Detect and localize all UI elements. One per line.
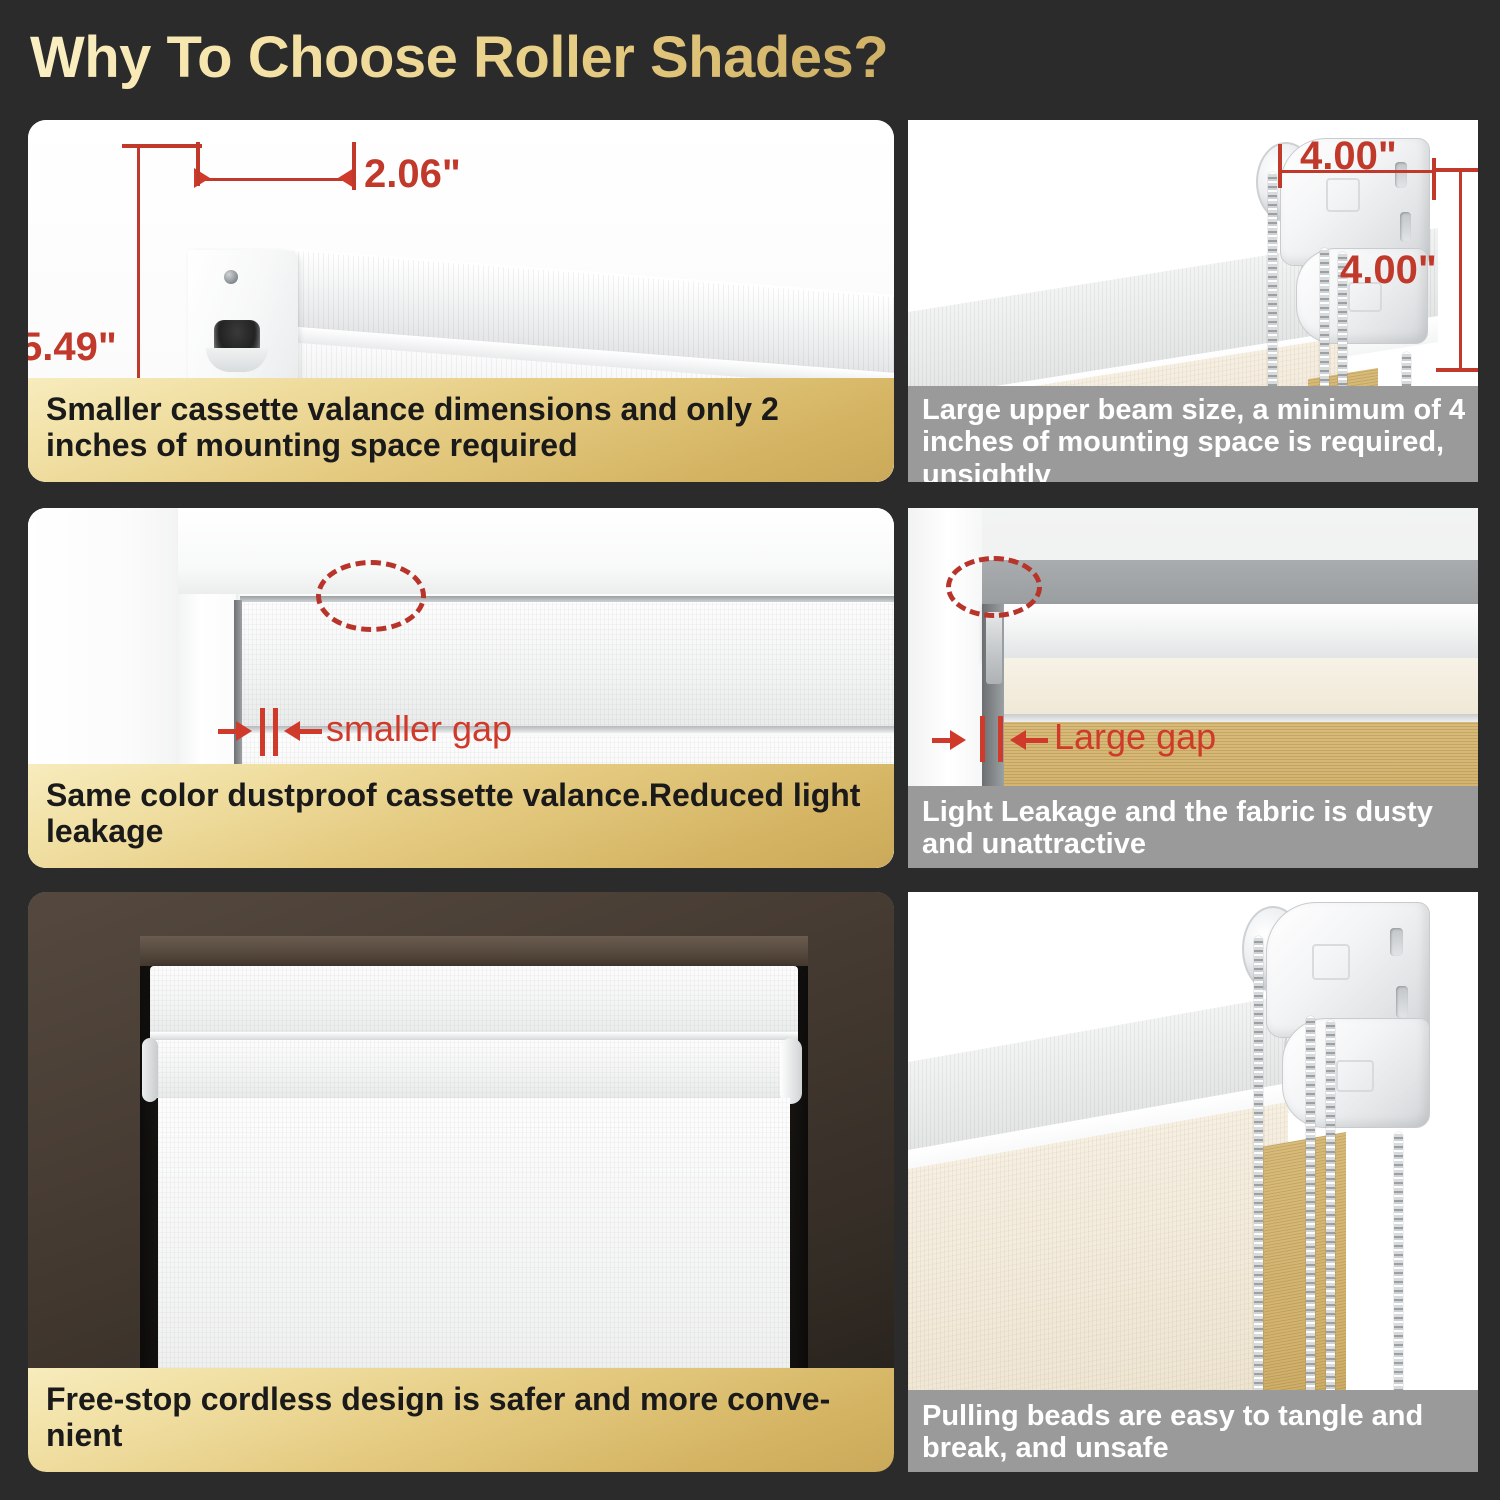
dimension-label-height: 5.49" xyxy=(28,325,117,370)
infographic-root: Why To Choose Roller Shades? xyxy=(0,0,1500,1500)
caption-top-right: Large upper beam size, a minimum of 4 in… xyxy=(908,386,1478,482)
caption-middle-right: Light Leakage and the fabric is dusty an… xyxy=(908,786,1478,868)
gap-callout-label: Large gap xyxy=(1054,716,1216,758)
dim-tick-right-top xyxy=(352,142,356,190)
gap-arrow-right-tail xyxy=(300,729,322,734)
detail-highlight-ellipse xyxy=(946,556,1042,618)
bracket-notch-icon xyxy=(1326,178,1360,212)
caption-text: Pulling beads are easy to tangle and bre… xyxy=(922,1400,1423,1464)
caption-bottom-left: Free-stop cordless design is safer and m… xyxy=(28,1368,894,1472)
detail-highlight-ellipse xyxy=(316,560,426,632)
dim-tick-top xyxy=(1436,168,1478,172)
roller-end-left xyxy=(142,1038,158,1102)
window-soffit xyxy=(140,936,808,966)
headrail-valance xyxy=(150,966,798,1036)
caption-middle-left: Same color dustproof cassette valance.Re… xyxy=(28,764,894,868)
gap-callout-label: smaller gap xyxy=(326,708,512,750)
caption-top-left: Smaller cassette valance dimensions and … xyxy=(28,378,894,482)
dim-tick-left-top xyxy=(196,142,200,186)
screw-icon-top xyxy=(224,270,238,284)
panel-bottom-right: Pulling beads are easy to tangle and bre… xyxy=(908,892,1478,1472)
caption-text-line1: Free-stop cordless design is safer and m… xyxy=(46,1381,830,1417)
dim-line-width xyxy=(198,178,353,181)
caption-text-line2: nient xyxy=(46,1417,122,1453)
panel-middle-right: Large gap Light Leakage and the fabric i… xyxy=(908,508,1478,868)
gap-arrow-left-head xyxy=(236,721,252,741)
caption-text: Large upper beam size, a minimum of 4 in… xyxy=(922,394,1465,482)
bracket-notch-icon-lower xyxy=(1336,1060,1374,1092)
dimension-label-width: 2.06" xyxy=(364,152,461,197)
caption-bottom-right: Pulling beads are easy to tangle and bre… xyxy=(908,1390,1478,1472)
roller-end-right xyxy=(780,1038,802,1104)
headrail-tube xyxy=(982,604,1478,662)
bracket-slot-mid xyxy=(1396,986,1408,1018)
dim-tick-bottom xyxy=(1436,368,1478,372)
gap-arrow-right-head xyxy=(1010,730,1026,750)
headrail-seam xyxy=(150,1032,798,1040)
valance-face xyxy=(982,658,1478,718)
panel-top-right: 4.00" 4.00" Large upper beam size, a min… xyxy=(908,120,1478,482)
dim-tick-left xyxy=(1278,144,1282,188)
window-frame-top xyxy=(178,508,894,594)
dim-line-height xyxy=(1459,170,1462,370)
gap-arrow-left-head xyxy=(950,730,966,750)
gap-marker-bar-a xyxy=(980,716,985,762)
gap-marker-bar-a xyxy=(260,708,265,756)
dim-tick-top xyxy=(122,144,202,148)
gap-marker-bar-b xyxy=(273,708,278,756)
bracket-hardware xyxy=(986,612,1002,684)
dim-tick-right xyxy=(1432,158,1436,200)
gap-arrow-right-tail xyxy=(1026,738,1048,743)
photo-pulling-beads xyxy=(908,892,1478,1472)
caption-text: Smaller cassette valance dimensions and … xyxy=(46,391,779,463)
bracket-slot-top xyxy=(1390,928,1403,956)
caption-text: Light Leakage and the fabric is dusty an… xyxy=(922,796,1433,860)
panel-bottom-left: Free-stop cordless design is safer and m… xyxy=(28,892,894,1472)
page-title: Why To Choose Roller Shades? xyxy=(30,22,1030,94)
panel-middle-left: smaller gap Same color dustproof cassett… xyxy=(28,508,894,868)
bracket-notch-icon xyxy=(1312,944,1350,980)
dimension-label-width: 4.00" xyxy=(1300,134,1397,179)
bracket-slot-mid xyxy=(1400,212,1411,242)
caption-text: Same color dustproof cassette valance.Re… xyxy=(46,777,860,849)
gap-marker-bar-b xyxy=(998,716,1003,762)
gap-arrow-right-head xyxy=(284,721,300,741)
roller-band xyxy=(150,1040,798,1098)
panel-top-left: 2.06" 5.49" Smaller cassette valance dim… xyxy=(28,120,894,482)
dimension-label-height: 4.00" xyxy=(1340,248,1437,293)
dark-recess-band xyxy=(982,560,1478,608)
